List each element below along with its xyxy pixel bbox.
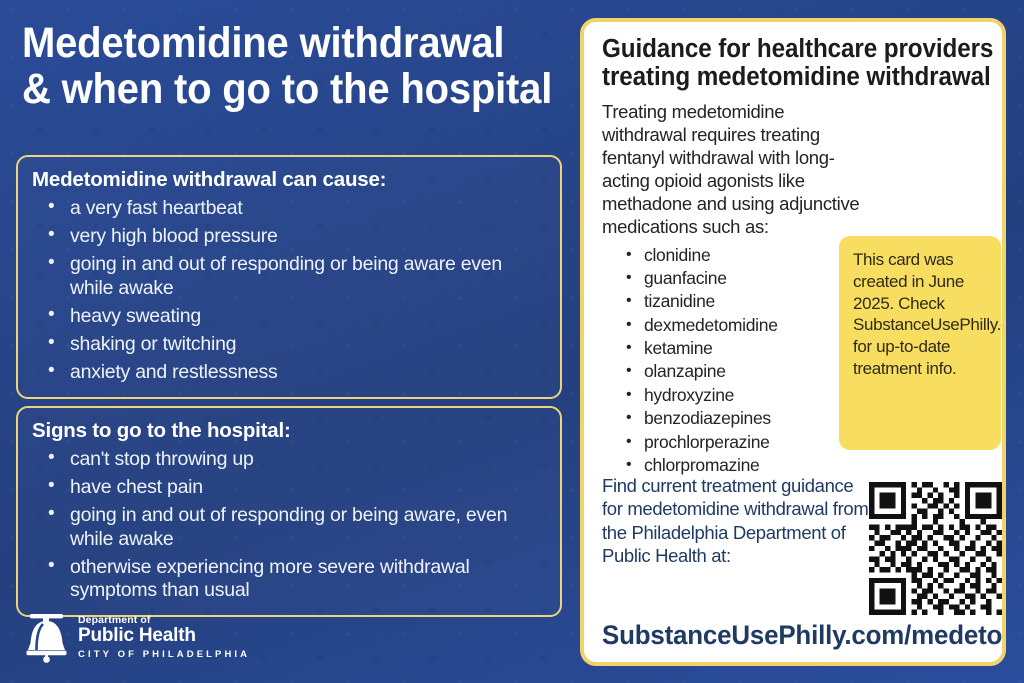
guidance-title: Guidance for healthcare providers treati… xyxy=(602,36,967,91)
signs-panel-title: Signs to go to the hospital: xyxy=(32,419,546,443)
causes-list: a very fast heartbeat very high blood pr… xyxy=(32,197,546,384)
qr-code-graphic xyxy=(869,482,1002,615)
guidance-panel: Guidance for healthcare providers treati… xyxy=(580,18,1006,666)
guidance-paragraph: Treating medetomidine withdrawal require… xyxy=(602,101,870,239)
find-guidance-text: Find current treatment guidance for mede… xyxy=(602,474,870,567)
list-item: prochlorperazine xyxy=(602,431,870,454)
list-item: hydroxyzine xyxy=(602,384,870,407)
list-item: benzodiazepines xyxy=(602,407,870,430)
causes-panel: Medetomidine withdrawal can cause: a ver… xyxy=(16,155,562,399)
list-item: tizanidine xyxy=(602,290,870,313)
list-item: can't stop throwing up xyxy=(32,448,546,471)
page-title-line-1: Medetomidine withdrawal xyxy=(22,20,530,66)
medication-list: clonidine guanfacine tizanidine dexmedet… xyxy=(602,244,870,478)
info-card: Medetomidine withdrawal & when to go to … xyxy=(0,0,1024,683)
list-item: guanfacine xyxy=(602,267,870,290)
list-item: heavy sweating xyxy=(32,305,546,328)
guidance-title-line-1: Guidance for healthcare providers xyxy=(602,36,967,64)
list-item: have chest pain xyxy=(32,476,546,499)
philadelphia-public-health-logo: Department of Public Health CITY OF PHIL… xyxy=(24,612,250,664)
list-item: olanzapine xyxy=(602,360,870,383)
page-title: Medetomidine withdrawal & when to go to … xyxy=(22,20,530,113)
card-date-note: This card was created in June 2025. Chec… xyxy=(839,236,1001,450)
list-item: otherwise experiencing more severe withd… xyxy=(32,556,546,602)
website-url[interactable]: SubstanceUsePhilly.com/medetomidine xyxy=(602,620,978,651)
guidance-title-line-2: treating medetomidine withdrawal xyxy=(602,64,967,92)
list-item: clonidine xyxy=(602,244,870,267)
list-item: going in and out of responding or being … xyxy=(32,253,546,299)
list-item: shaking or twitching xyxy=(32,333,546,356)
left-column: Medetomidine withdrawal & when to go to … xyxy=(0,0,578,683)
logo-wordmark: Department of Public Health CITY OF PHIL… xyxy=(78,614,250,661)
list-item: very high blood pressure xyxy=(32,225,546,248)
causes-panel-title: Medetomidine withdrawal can cause: xyxy=(32,168,546,192)
list-item: a very fast heartbeat xyxy=(32,197,546,220)
qr-code-icon[interactable] xyxy=(869,482,1002,615)
list-item: going in and out of responding or being … xyxy=(32,504,546,550)
card-date-note-text: This card was created in June 2025. Chec… xyxy=(853,249,989,380)
list-item: dexmedetomidine xyxy=(602,314,870,337)
page-title-line-2: & when to go to the hospital xyxy=(22,66,530,112)
list-item: ketamine xyxy=(602,337,870,360)
liberty-bell-icon xyxy=(24,612,69,664)
list-item: anxiety and restlessness xyxy=(32,361,546,384)
signs-panel: Signs to go to the hospital: can't stop … xyxy=(16,406,562,617)
logo-city: CITY OF PHILADELPHIA xyxy=(78,649,250,661)
logo-name: Public Health xyxy=(78,626,250,647)
signs-list: can't stop throwing up have chest pain g… xyxy=(32,448,546,602)
